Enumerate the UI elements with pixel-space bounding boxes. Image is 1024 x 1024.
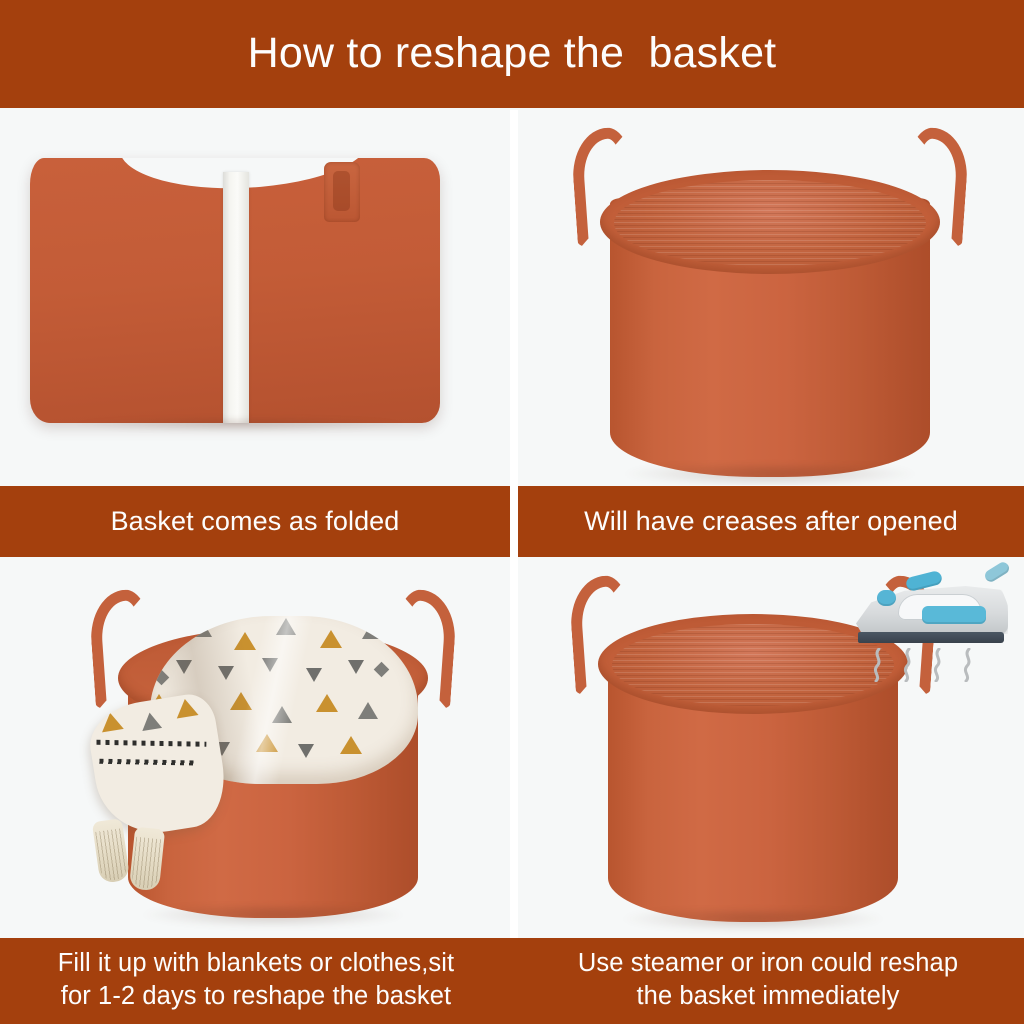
steam-wave-icon — [962, 648, 971, 682]
blanket-tassel — [92, 818, 130, 884]
bottom-caption-bar: Fill it up with blankets or clothes,sit … — [0, 938, 1024, 1024]
iron-soleplate — [858, 632, 1004, 643]
folded-basket-photo — [30, 158, 440, 423]
caption-divider — [510, 486, 518, 557]
blanket-zigzag-stitch — [99, 759, 195, 766]
folded-basket-shadow — [70, 416, 410, 432]
step-4-caption: Use steamer or iron could reshap the bas… — [578, 947, 958, 1013]
step-2-image-panel — [518, 110, 1024, 485]
steam-wave-icon — [932, 648, 941, 682]
steam-iron-icon — [850, 564, 1020, 684]
panel-divider-top — [510, 110, 518, 486]
step-1-image-panel — [0, 110, 510, 485]
step-3-image-panel — [0, 560, 510, 937]
step-2-caption-bar: Will have creases after opened — [518, 486, 1024, 557]
basket-shadow — [143, 906, 403, 928]
step-1-caption: Basket comes as folded — [111, 506, 400, 538]
step-3-caption: Fill it up with blankets or clothes,sit … — [58, 947, 454, 1013]
basket-shadow — [623, 910, 883, 932]
page-header: How to reshape the basket — [0, 0, 1024, 108]
step-2-caption: Will have creases after opened — [584, 506, 958, 538]
basket-interior-rings — [614, 180, 926, 266]
blanket-zigzag-stitch — [96, 740, 206, 747]
basket-shadow — [625, 465, 915, 485]
iron-dial — [877, 590, 896, 606]
step-1-caption-bar: Basket comes as folded — [0, 486, 510, 557]
panel-divider-bottom — [510, 557, 518, 938]
page-title: How to reshape the basket — [248, 32, 777, 75]
step-4-image-panel — [518, 560, 1024, 937]
folded-basket-handle-tab — [324, 162, 360, 222]
iron-cord-tip — [983, 560, 1011, 584]
step-3-caption-cell: Fill it up with blankets or clothes,sit … — [0, 938, 512, 1024]
step-4-caption-cell: Use steamer or iron could reshap the bas… — [512, 938, 1024, 1024]
blanket-drape — [84, 691, 231, 841]
basket-with-blanket-photo — [88, 572, 458, 924]
infographic-page: How to reshape the basket Basket comes a… — [0, 0, 1024, 1024]
steam-wave-icon — [872, 648, 881, 682]
folded-basket-white-strap — [223, 172, 249, 423]
opened-basket-photo — [570, 128, 970, 483]
basket-interior — [614, 180, 926, 266]
iron-steam-button — [922, 606, 986, 624]
steam-wave-icon — [902, 648, 911, 682]
